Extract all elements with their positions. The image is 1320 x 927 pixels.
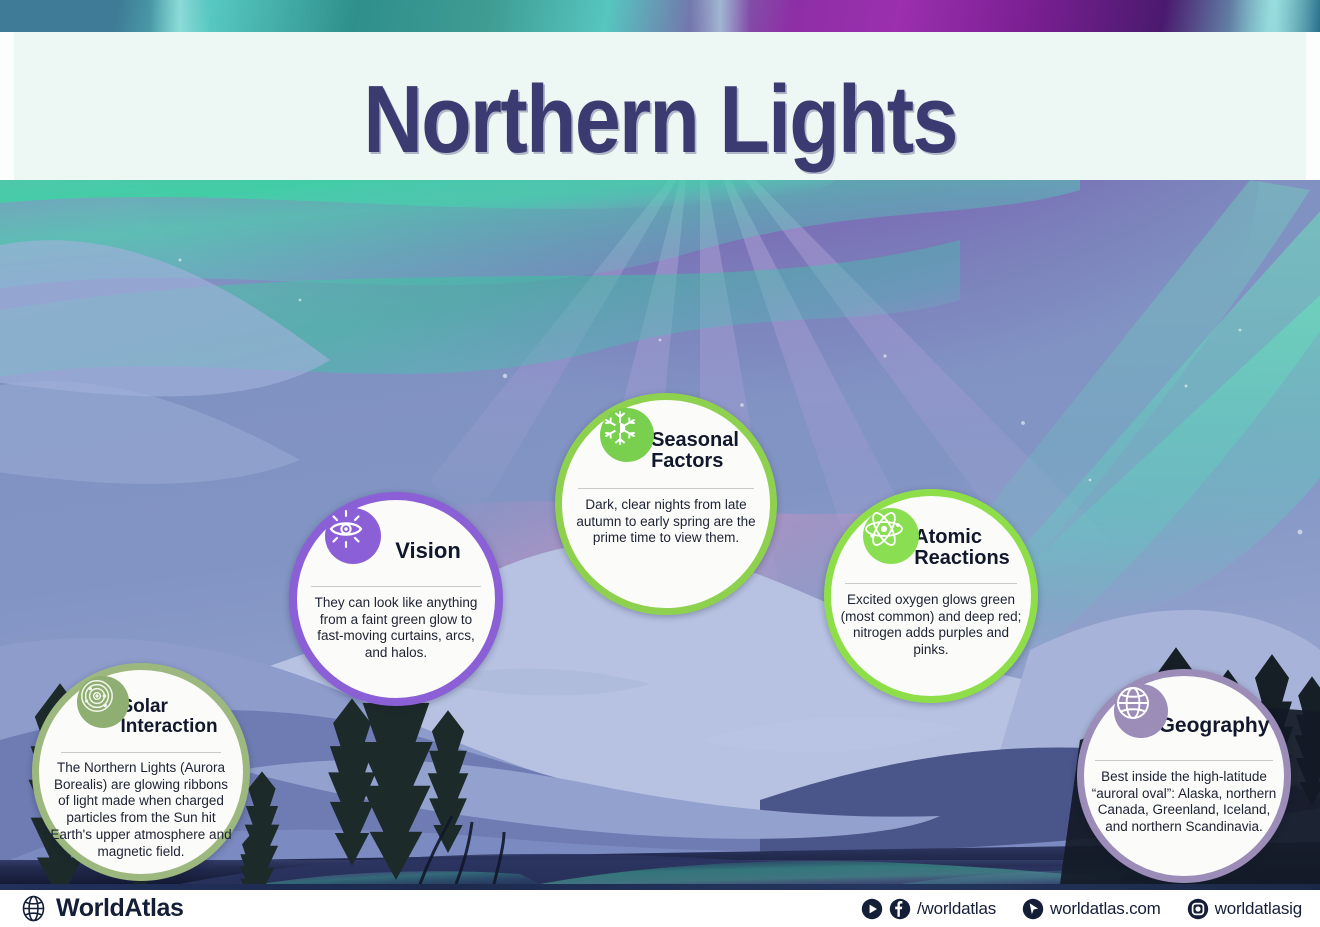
instagram-icon[interactable] (1187, 898, 1209, 920)
brand-logo[interactable]: WorldAtlas (20, 894, 184, 923)
facebook-icon[interactable] (889, 898, 911, 920)
fact-card-geography[interactable]: Geography Best inside the high-latitude … (1077, 669, 1291, 883)
infographic-root: Northern Lights (0, 0, 1320, 927)
fact-title-atomic: AtomicReactions (914, 527, 1010, 569)
social-website-link[interactable]: worldatlas.com (1022, 898, 1161, 920)
top-aurora-strip (0, 0, 1320, 32)
solar-system-icon (77, 676, 129, 728)
title-band: Northern Lights (0, 32, 1320, 180)
youtube-icon[interactable] (861, 898, 883, 920)
fact-title-geography: Geography (1159, 715, 1270, 737)
fact-card-vision[interactable]: Vision They can look like anything from … (289, 492, 503, 706)
fact-desc-geography: Best inside the high-latitude “auroral o… (1088, 769, 1280, 836)
fact-desc-vision: They can look like anything from a faint… (307, 595, 485, 662)
fact-desc-atomic: Excited oxygen glows green (most common)… (839, 592, 1023, 659)
globe-icon (20, 895, 47, 922)
social-label-instagram: worldatlasig (1215, 899, 1302, 919)
social-worldatlas-handle[interactable]: /worldatlas (861, 898, 996, 920)
fact-card-atomic-reactions[interactable]: AtomicReactions Excited oxygen glows gre… (824, 489, 1038, 703)
globe-icon (1114, 684, 1168, 738)
page-title: Northern Lights (104, 72, 1215, 168)
atom-icon (863, 508, 919, 564)
fact-card-solar-interaction[interactable]: SolarInteraction The Northern Lights (Au… (32, 663, 250, 881)
fact-card-seasonal-factors[interactable]: SeasonalFactors Dark, clear nights from … (555, 393, 777, 615)
fact-title-seasonal: SeasonalFactors (651, 430, 739, 472)
cursor-icon[interactable] (1022, 898, 1044, 920)
eye-icon (325, 508, 381, 564)
social-label-handle: /worldatlas (917, 899, 996, 919)
fact-desc-seasonal: Dark, clear nights from late autumn to e… (573, 497, 759, 547)
snowflake-sun-icon (600, 408, 654, 462)
fact-title-vision: Vision (395, 539, 461, 562)
social-links: /worldatlas worldatlas.com (861, 898, 1302, 920)
fact-title-solar: SolarInteraction (120, 697, 217, 737)
footer-bar: WorldAtlas /worldatlas (0, 890, 1320, 927)
aurora-landscape-scene: SolarInteraction The Northern Lights (Au… (0, 180, 1320, 884)
social-instagram-link[interactable]: worldatlasig (1187, 898, 1302, 920)
brand-name: WorldAtlas (56, 894, 184, 923)
social-label-website: worldatlas.com (1050, 899, 1161, 919)
fact-desc-solar: The Northern Lights (Aurora Borealis) ar… (48, 760, 234, 860)
